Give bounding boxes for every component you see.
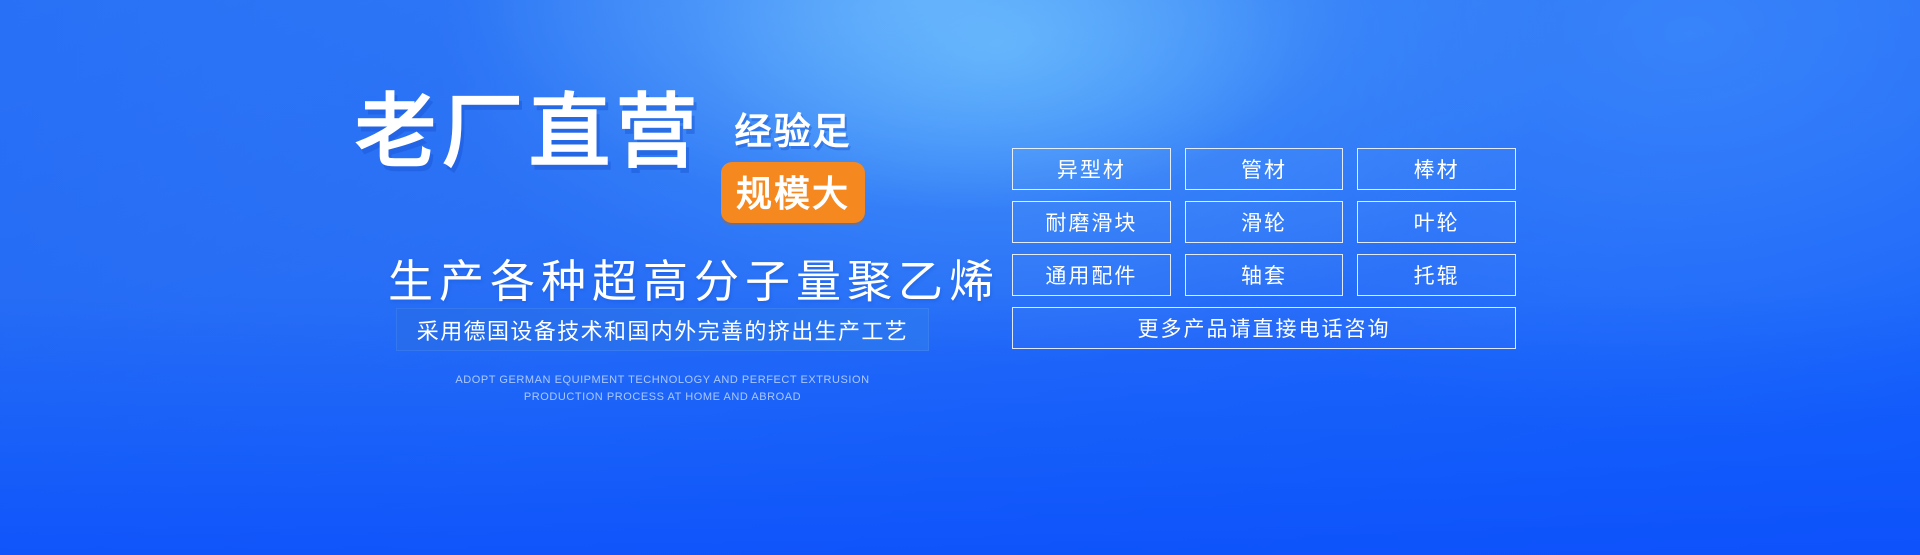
product-button-hualun[interactable]: 滑轮 [1185, 201, 1344, 243]
process-strip: 采用德国设备技术和国内外完善的挤出生产工艺 [396, 308, 929, 351]
product-button-yixingcai[interactable]: 异型材 [1012, 148, 1171, 190]
headline-badges: 经验足 规模大 [721, 95, 865, 223]
product-button-tuogun[interactable]: 托辊 [1357, 254, 1516, 296]
english-caption-line-1: ADOPT GERMAN EQUIPMENT TECHNOLOGY AND PE… [396, 372, 929, 389]
product-button-naimohuakuai[interactable]: 耐磨滑块 [1012, 201, 1171, 243]
headline-row: 老厂直营 经验足 规模大 [355, 95, 865, 223]
product-button-tongyongpeijian[interactable]: 通用配件 [1012, 254, 1171, 296]
more-products-button[interactable]: 更多产品请直接电话咨询 [1012, 307, 1516, 349]
product-category-grid: 异型材 管材 棒材 耐磨滑块 滑轮 叶轮 通用配件 轴套 托辊 [1012, 148, 1516, 296]
product-button-yelun[interactable]: 叶轮 [1357, 201, 1516, 243]
product-button-zhoutao[interactable]: 轴套 [1185, 254, 1344, 296]
subheadline: 生产各种超高分子量聚乙烯 [388, 245, 1000, 310]
page-title: 老厂直营 [355, 95, 703, 173]
product-button-bangcai[interactable]: 棒材 [1357, 148, 1516, 190]
badge-experience: 经验足 [735, 101, 852, 155]
badge-scale: 规模大 [721, 162, 865, 223]
product-category-panel: 异型材 管材 棒材 耐磨滑块 滑轮 叶轮 通用配件 轴套 托辊 更多产品请直接电… [1012, 148, 1516, 349]
english-caption-line-2: PRODUCTION PROCESS AT HOME AND ABROAD [396, 389, 929, 406]
english-caption: ADOPT GERMAN EQUIPMENT TECHNOLOGY AND PE… [396, 372, 929, 406]
product-button-guancai[interactable]: 管材 [1185, 148, 1344, 190]
process-strip-text: 采用德国设备技术和国内外完善的挤出生产工艺 [417, 314, 908, 346]
banner-stage: 老厂直营 经验足 规模大 生产各种超高分子量聚乙烯 采用德国设备技术和国内外完善… [0, 0, 1920, 555]
banner-left-content: 老厂直营 经验足 规模大 生产各种超高分子量聚乙烯 采用德国设备技术和国内外完善… [0, 0, 960, 555]
